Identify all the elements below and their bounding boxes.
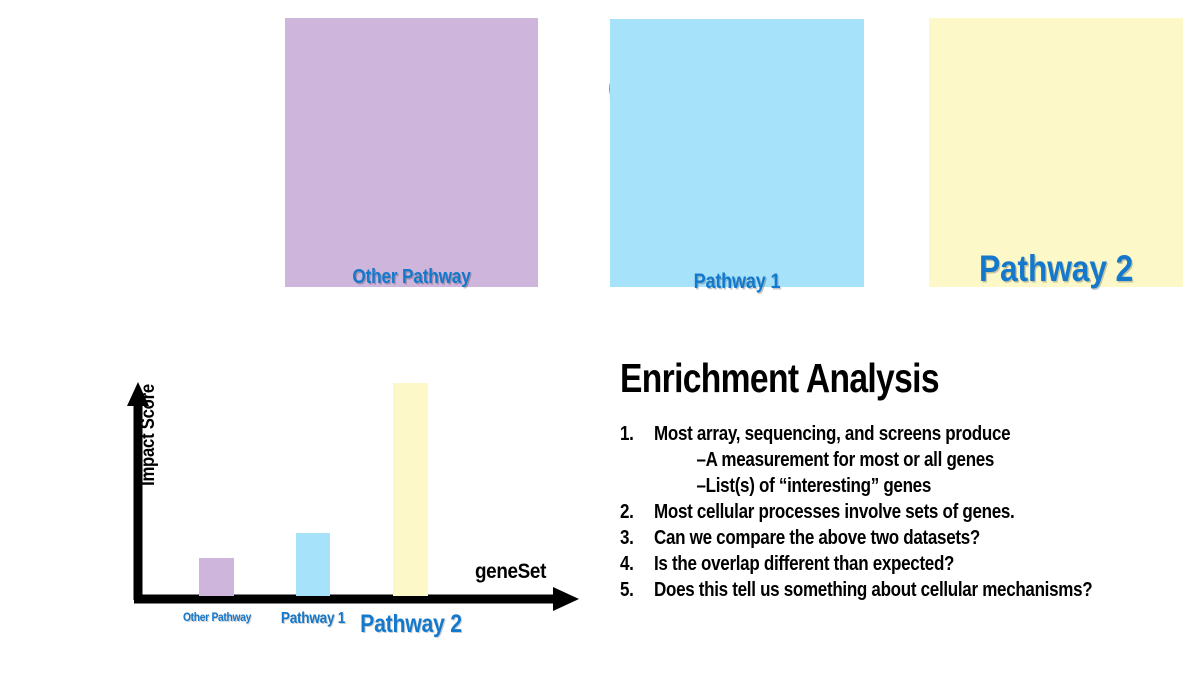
- list-item-text: Is the overlap different than expected?: [654, 551, 954, 577]
- x-axis-label: geneSet: [475, 560, 546, 584]
- list-item-text: Does this tell us something about cellul…: [654, 577, 1092, 603]
- list-item-number: 1.: [620, 421, 649, 447]
- bar-1: [199, 558, 234, 596]
- page-title: Enrichment Analysis: [620, 358, 1087, 399]
- list-item-number: 5.: [620, 577, 649, 603]
- list-item-number: 2.: [620, 499, 649, 525]
- list-item-row: 4.Is the overlap different than expected…: [620, 551, 1190, 577]
- pathway-box-pathway-2: Pathway 2: [929, 18, 1183, 287]
- list-item-text: Most cellular processes involve sets of …: [654, 499, 1014, 525]
- pathway-box-pathway-1: Pathway 1: [610, 19, 864, 287]
- pathway-box-caption: Pathway 1: [628, 270, 846, 294]
- list-item-row: 1.Most array, sequencing, and screens pr…: [620, 421, 1190, 447]
- list-item: 1.Most array, sequencing, and screens pr…: [620, 421, 1190, 499]
- list-item-number: 4.: [620, 551, 649, 577]
- y-axis-label: Impact Score: [138, 356, 160, 514]
- list-item: 4.Is the overlap different than expected…: [620, 551, 1190, 577]
- x-tick-label-2: Pathway 1: [281, 610, 345, 628]
- list-item-text: Can we compare the above two datasets?: [654, 525, 980, 551]
- list-item-text: Most array, sequencing, and screens prod…: [654, 421, 1010, 447]
- list-item: 3.Can we compare the above two datasets?: [620, 525, 1190, 551]
- numbered-list: 1.Most array, sequencing, and screens pr…: [620, 421, 1190, 603]
- list-item: 5.Does this tell us something about cell…: [620, 577, 1190, 603]
- list-subitem-text: –A measurement for most or all genes: [620, 447, 1105, 473]
- slide-canvas: Other PathwayPathway 1Pathway 2 Other Pa…: [0, 0, 1200, 675]
- impact-score-bar-chart: Other PathwayPathway 1Pathway 2 Impact S…: [95, 370, 595, 640]
- pathway-box-other-pathway: Other Pathway: [285, 18, 538, 287]
- list-item-row: 3.Can we compare the above two datasets?: [620, 525, 1190, 551]
- x-tick-label-3: Pathway 2: [360, 610, 462, 639]
- list-item: 2.Most cellular processes involve sets o…: [620, 499, 1190, 525]
- list-subitem-text: –List(s) of “interesting” genes: [620, 473, 1105, 499]
- bar-2: [296, 533, 330, 596]
- pathway-box-caption: Pathway 2: [947, 248, 1165, 290]
- x-axis-arrowhead: [553, 587, 579, 611]
- bar-3: [393, 383, 428, 596]
- list-item-number: 3.: [620, 525, 649, 551]
- enrichment-analysis-panel: Enrichment Analysis 1.Most array, sequen…: [620, 358, 1190, 603]
- list-item-row: 5.Does this tell us something about cell…: [620, 577, 1190, 603]
- chart-axes: [95, 370, 595, 640]
- pathway-box-caption: Other Pathway: [303, 266, 521, 289]
- x-tick-label-1: Other Pathway: [182, 610, 250, 624]
- list-item-row: 2.Most cellular processes involve sets o…: [620, 499, 1190, 525]
